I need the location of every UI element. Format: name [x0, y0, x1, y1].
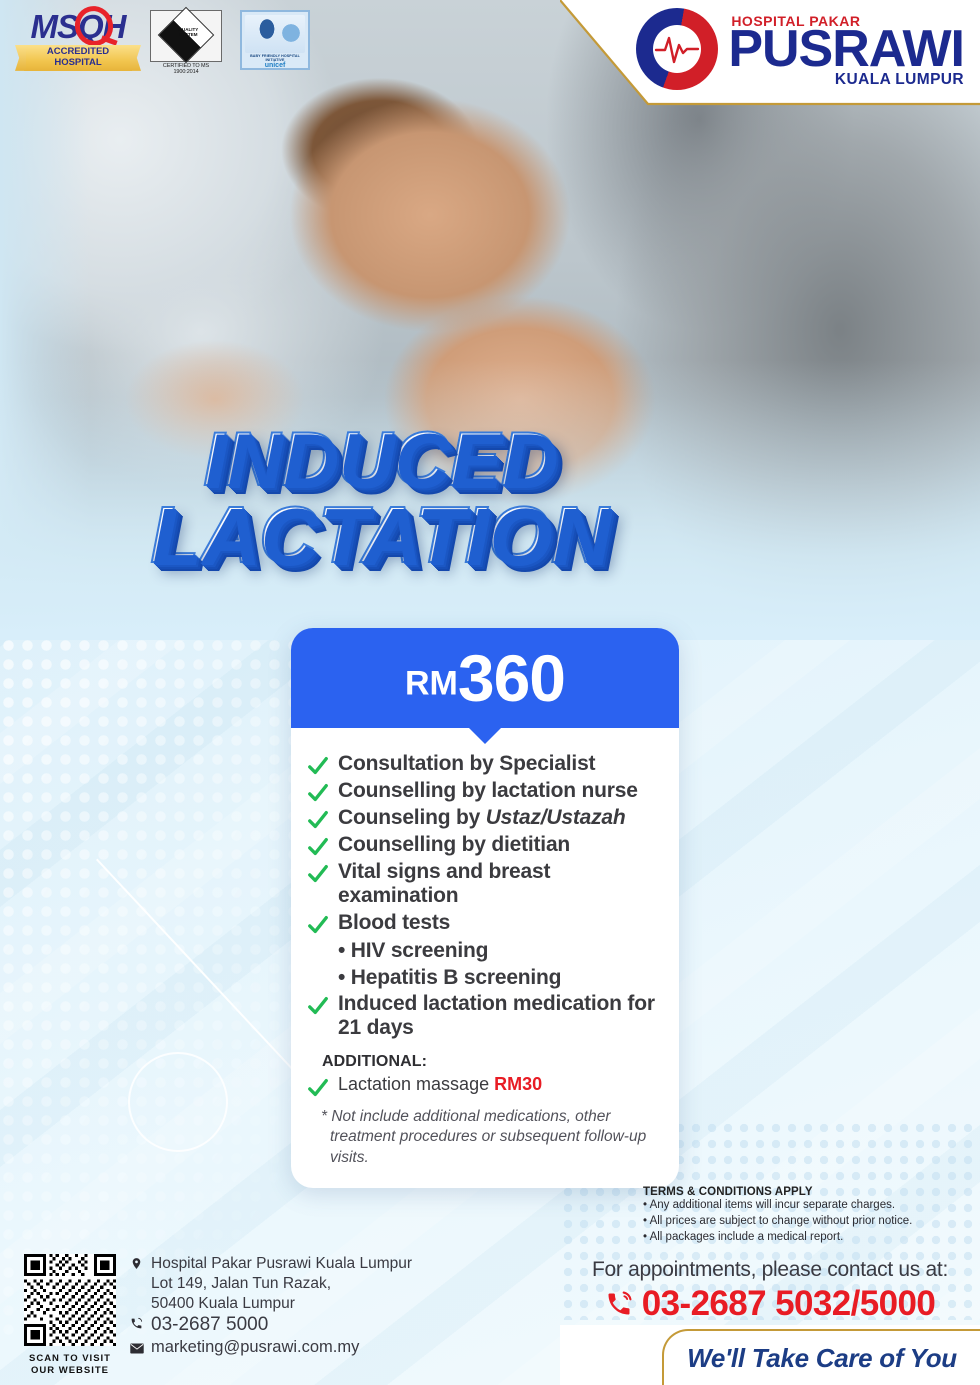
sub-list-item-label: • Hepatitis B screening: [338, 965, 659, 990]
additional-list-item: Lactation massage RM30: [307, 1074, 659, 1099]
envelope-icon: [130, 1338, 144, 1359]
pusrawi-name-label: PUSRAWI: [728, 26, 964, 74]
msqh-wordmark: MSQH: [31, 10, 126, 43]
unicef-bfhi-logo: BABY FRIENDLY HOSPITAL INITIATIVE unicef: [240, 10, 310, 70]
decorative-circle-outline: [128, 1052, 228, 1152]
list-item: Blood tests: [307, 911, 659, 936]
sirim-quality-system-label: QUALITYSYSTEM: [169, 28, 207, 37]
check-icon: [307, 863, 329, 885]
list-item: Induced lactation medication for 21 days: [307, 992, 659, 1041]
heartbeat-pulse-icon: [653, 25, 701, 73]
location-pin-icon: [130, 1254, 144, 1275]
sub-list-item-label: • HIV screening: [338, 938, 659, 963]
sirim-certified-label: CERTIFIED TO MS 1900:2014: [150, 63, 222, 75]
package-items-list: Consultation by Specialist Counselling b…: [291, 728, 679, 1188]
additional-item-price: RM30: [494, 1074, 542, 1094]
sirim-box: QUALITYSYSTEM SIRIM: [150, 10, 222, 62]
title-line-lactation: LACTATION: [0, 497, 760, 572]
additional-item-label: Lactation massage RM30: [338, 1074, 542, 1096]
pusrawi-wordmark: HOSPITAL PAKAR PUSRAWI KUALA LUMPUR: [728, 10, 964, 87]
msqh-hospital-label: HOSPITAL: [28, 58, 128, 69]
terms-line: • Any additional items will incur separa…: [643, 1198, 963, 1214]
list-item: Vital signs and breast examination: [307, 860, 659, 909]
terms-line: • All packages include a medical report.: [643, 1230, 963, 1246]
pusrawi-logo: HOSPITAL PAKAR PUSRAWI KUALA LUMPUR: [636, 8, 964, 90]
address-line-2: Lot 149, Jalan Tun Razak,: [151, 1274, 412, 1294]
qr-caption-line1: SCAN TO VISIT: [24, 1353, 116, 1365]
appointments-block: For appointments, please contact us at: …: [575, 1258, 965, 1324]
check-icon: [307, 809, 329, 831]
list-item-label: Vital signs and breast examination: [338, 860, 659, 909]
msqh-logo: MSQH ACCREDITED HOSPITAL: [24, 10, 132, 71]
check-icon: [307, 914, 329, 936]
list-item: Counselling by lactation nurse: [307, 779, 659, 804]
address-line-1: Hospital Pakar Pusrawi Kuala Lumpur: [151, 1254, 412, 1274]
list-item-emphasis: Ustaz/Ustazah: [486, 806, 626, 829]
email-row[interactable]: marketing@pusrawi.com.my: [130, 1338, 412, 1359]
terms-and-conditions: TERMS & CONDITIONS APPLY • Any additiona…: [643, 1186, 963, 1246]
check-icon: [307, 782, 329, 804]
list-item-prefix: Counseling by: [338, 806, 486, 829]
additional-item-text: Lactation massage: [338, 1074, 494, 1094]
terms-title: TERMS & CONDITIONS APPLY: [643, 1186, 963, 1198]
appointments-label: For appointments, please contact us at:: [575, 1258, 965, 1282]
mother-baby-icon: [245, 15, 305, 53]
price-amount: 360: [458, 641, 565, 715]
qr-caption-line2: OUR WEBSITE: [24, 1365, 116, 1377]
check-icon: [307, 755, 329, 777]
contact-details: Hospital Pakar Pusrawi Kuala Lumpur Lot …: [130, 1254, 412, 1377]
list-item-label: Blood tests: [338, 911, 450, 935]
sub-list-item: • Hepatitis B screening: [338, 965, 659, 990]
appointments-number[interactable]: 03-2687 5032/5000: [575, 1284, 965, 1324]
qr-code-icon[interactable]: [24, 1254, 116, 1346]
phone-number[interactable]: 03-2687 5000: [151, 1314, 268, 1336]
check-icon: [307, 1077, 329, 1099]
price-value: RM360: [405, 645, 565, 711]
list-item-label: Counselling by lactation nurse: [338, 779, 638, 803]
list-item-label: Counseling by Ustaz/Ustazah: [338, 806, 626, 830]
list-item-label: Counselling by dietitian: [338, 833, 570, 857]
price-header-notch: [468, 727, 502, 744]
qr-caption: SCAN TO VISIT OUR WEBSITE: [24, 1353, 116, 1377]
phone-row[interactable]: 03-2687 5000: [130, 1314, 412, 1336]
check-icon: [307, 995, 329, 1017]
additional-label: ADDITIONAL:: [322, 1053, 659, 1071]
card-disclaimer: * Not include additional medications, ot…: [321, 1107, 659, 1168]
list-item: Counselling by dietitian: [307, 833, 659, 858]
list-item: Counseling by Ustaz/Ustazah: [307, 806, 659, 831]
price-currency: RM: [405, 665, 458, 703]
address-line-3: 50400 Kuala Lumpur: [151, 1294, 412, 1314]
list-item-label: Induced lactation medication for 21 days: [338, 992, 659, 1041]
footer-contact-block: SCAN TO VISIT OUR WEBSITE Hospital Pakar…: [24, 1254, 412, 1377]
phone-icon: [130, 1314, 144, 1335]
pusrawi-mark-icon: [636, 8, 718, 90]
list-item: Consultation by Specialist: [307, 752, 659, 777]
msqh-ribbon: ACCREDITED HOSPITAL: [24, 45, 132, 71]
sub-list-item: • HIV screening: [338, 938, 659, 963]
check-icon: [307, 836, 329, 858]
terms-line: • All prices are subject to change witho…: [643, 1214, 963, 1230]
title-line-induced: INDUCED: [0, 424, 760, 495]
unicef-box: BABY FRIENDLY HOSPITAL INITIATIVE unicef: [240, 10, 310, 70]
address-row: Hospital Pakar Pusrawi Kuala Lumpur Lot …: [130, 1254, 412, 1313]
tagline-text: We'll Take Care of You: [687, 1343, 957, 1374]
qr-code-block[interactable]: SCAN TO VISIT OUR WEBSITE: [24, 1254, 116, 1377]
unicef-label: unicef: [245, 62, 305, 69]
page-title: INDUCED LACTATION: [0, 424, 760, 573]
list-item-label: Consultation by Specialist: [338, 752, 595, 776]
price-package-card: RM360 Consultation by Specialist Counsel…: [291, 628, 679, 1188]
phone-call-icon: [605, 1290, 633, 1318]
appointments-number-text[interactable]: 03-2687 5032/5000: [642, 1284, 935, 1324]
accreditation-logos: MSQH ACCREDITED HOSPITAL QUALITYSYSTEM S…: [24, 10, 310, 75]
address-text: Hospital Pakar Pusrawi Kuala Lumpur Lot …: [151, 1254, 412, 1313]
tagline-ribbon: We'll Take Care of You: [662, 1329, 980, 1385]
email-address[interactable]: marketing@pusrawi.com.my: [151, 1338, 359, 1358]
price-header: RM360: [291, 628, 679, 728]
bfhi-label: BABY FRIENDLY HOSPITAL INITIATIVE: [245, 54, 305, 62]
sirim-logo: QUALITYSYSTEM SIRIM CERTIFIED TO MS 1900…: [150, 10, 222, 75]
